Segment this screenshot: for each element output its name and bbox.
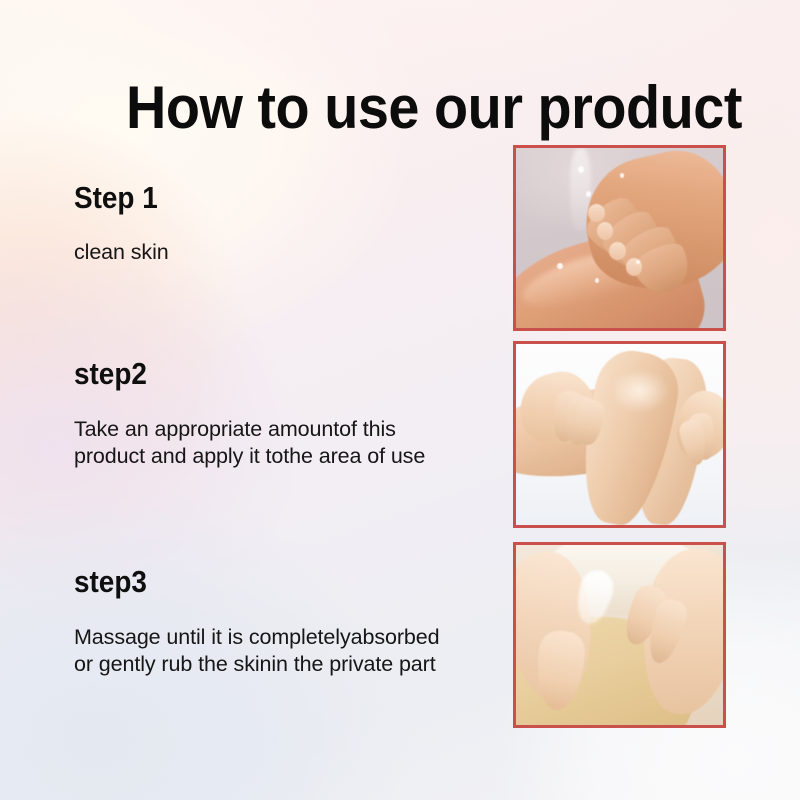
step-2-photo-inner <box>516 344 723 525</box>
knee-highlight <box>615 373 669 413</box>
step-3-photo-inner <box>516 545 723 725</box>
water-droplet <box>595 278 600 283</box>
step-2-heading: step2 <box>74 358 461 391</box>
water-droplet <box>586 191 591 196</box>
step-1-photo-inner <box>516 148 723 328</box>
step-3-heading: step3 <box>74 566 461 599</box>
water-droplet <box>620 173 624 178</box>
step-block-2: step2 Take an appropriate amountof this … <box>74 358 504 471</box>
fingernail-shape <box>597 222 614 240</box>
how-to-use-poster: How to use our product Step 1 clean skin… <box>0 0 800 800</box>
step-3-body: Massage until it is completelyabsorbed o… <box>74 624 504 680</box>
step-3-photo <box>513 542 726 728</box>
page-title: How to use our product <box>126 78 742 138</box>
step-1-heading: Step 1 <box>74 182 461 215</box>
step-2-photo <box>513 341 726 528</box>
water-droplet <box>557 263 562 269</box>
step-block-3: step3 Massage until it is completelyabso… <box>74 566 504 679</box>
step-1-photo <box>513 145 726 331</box>
fingernail-shape <box>609 242 626 260</box>
step-1-body: clean skin <box>74 239 504 267</box>
step-2-body: Take an appropriate amountof this produc… <box>74 416 504 472</box>
fingernail-shape <box>588 204 605 222</box>
step-block-1: Step 1 clean skin <box>74 182 504 266</box>
